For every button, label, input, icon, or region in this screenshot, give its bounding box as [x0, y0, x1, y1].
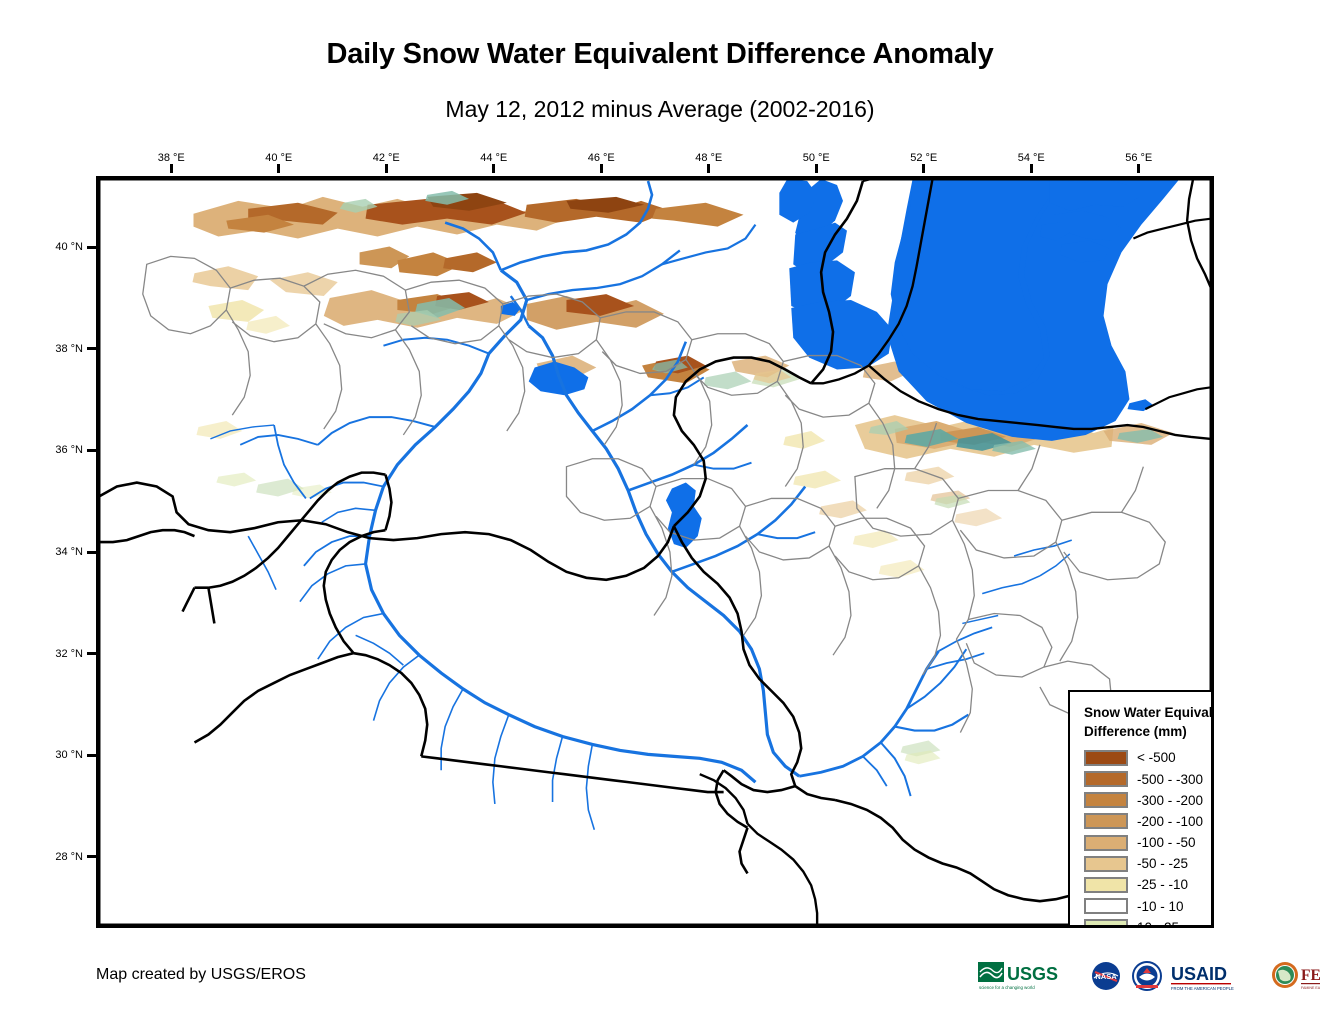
agency-logo-bar: USGS science for a changing world NASA U… [978, 957, 1320, 995]
latitude-tick [87, 652, 96, 655]
page-title: Daily Snow Water Equivalent Difference A… [0, 38, 1320, 71]
latitude-label: 34 °N [55, 546, 83, 558]
legend-row: < -500 [1084, 747, 1214, 768]
legend-label: -500 - -300 [1137, 772, 1203, 787]
fewsnet-logo[interactable]: FEWS NET FAMINE EARLY WARNING SYSTEMS NE… [1270, 959, 1320, 993]
longitude-label: 40 °E [265, 152, 292, 164]
legend-title: Snow Water Equivalent Difference (mm) [1084, 704, 1214, 741]
longitude-label: 42 °E [373, 152, 400, 164]
nasa-logo[interactable]: NASA [1089, 959, 1123, 993]
legend-color-swatch [1084, 835, 1128, 851]
latitude-label: 30 °N [55, 749, 83, 761]
legend-row: -10 - 10 [1084, 896, 1214, 917]
longitude-tick [170, 164, 173, 173]
svg-text:USAID: USAID [1171, 964, 1227, 984]
latitude-label: 36 °N [55, 444, 83, 456]
legend-row: -300 - -200 [1084, 790, 1214, 811]
svg-text:science for a changing world: science for a changing world [979, 985, 1035, 990]
longitude-label: 38 °E [158, 152, 185, 164]
longitude-tick [815, 164, 818, 173]
latitude-tick [87, 246, 96, 249]
legend-label: -100 - -50 [1137, 835, 1196, 850]
longitude-tick [600, 164, 603, 173]
legend-color-swatch [1084, 856, 1128, 872]
legend-label: -10 - 10 [1137, 899, 1184, 914]
map-canvas[interactable] [99, 179, 1211, 925]
legend-label: -300 - -200 [1137, 793, 1203, 808]
usgs-logo[interactable]: USGS science for a changing world [978, 959, 1082, 993]
legend-label: -25 - -10 [1137, 877, 1188, 892]
longitude-tick [277, 164, 280, 173]
longitude-label: 44 °E [480, 152, 507, 164]
latitude-tick [87, 754, 96, 757]
legend-label: < -500 [1137, 750, 1176, 765]
svg-text:USGS: USGS [1007, 964, 1058, 984]
legend-color-swatch [1084, 813, 1128, 829]
footer-credit: Map created by USGS/EROS [96, 966, 306, 984]
longitude-label: 50 °E [803, 152, 830, 164]
page-subtitle: May 12, 2012 minus Average (2002-2016) [0, 96, 1320, 123]
legend-label: -50 - -25 [1137, 856, 1188, 871]
legend-row: -500 - -300 [1084, 768, 1214, 789]
legend-color-swatch [1084, 792, 1128, 808]
longitude-tick [1030, 164, 1033, 173]
water-bodies-layer [501, 179, 1181, 766]
latitude-tick [87, 347, 96, 350]
latitude-tick [87, 449, 96, 452]
longitude-label: 56 °E [1125, 152, 1152, 164]
usaid-logo[interactable]: USAID FROM THE AMERICAN PEOPLE [1171, 959, 1263, 993]
map-legend: Snow Water Equivalent Difference (mm) < … [1068, 690, 1214, 928]
longitude-label: 52 °E [910, 152, 937, 164]
legend-label: 10 - 25 [1137, 920, 1179, 928]
longitude-tick [492, 164, 495, 173]
legend-row: -100 - -50 [1084, 832, 1214, 853]
legend-color-swatch [1084, 877, 1128, 893]
longitude-label: 54 °E [1018, 152, 1045, 164]
legend-color-swatch [1084, 750, 1128, 766]
longitude-tick [385, 164, 388, 173]
latitude-tick [87, 855, 96, 858]
legend-row: -25 - -10 [1084, 874, 1214, 895]
longitude-tick [707, 164, 710, 173]
svg-text:FAMINE EARLY WARNING SYSTEMS N: FAMINE EARLY WARNING SYSTEMS NETWORK [1301, 986, 1320, 990]
latitude-label: 40 °N [55, 241, 83, 253]
legend-color-swatch [1084, 919, 1128, 928]
longitude-tick [922, 164, 925, 173]
longitude-tick [1137, 164, 1140, 173]
legend-row: -50 - -25 [1084, 853, 1214, 874]
legend-label: -200 - -100 [1137, 814, 1203, 829]
legend-entries: < -500-500 - -300-300 - -200-200 - -100-… [1084, 747, 1214, 928]
latitude-label: 32 °N [55, 648, 83, 660]
svg-text:FEWS NET: FEWS NET [1301, 967, 1320, 984]
noaa-logo[interactable] [1130, 959, 1164, 993]
latitude-label: 28 °N [55, 851, 83, 863]
latitude-tick [87, 551, 96, 554]
legend-color-swatch [1084, 771, 1128, 787]
legend-row: -200 - -100 [1084, 811, 1214, 832]
legend-row: 10 - 25 [1084, 917, 1214, 928]
svg-text:NASA: NASA [1095, 972, 1117, 981]
map-frame[interactable]: Snow Water Equivalent Difference (mm) < … [96, 176, 1214, 928]
legend-color-swatch [1084, 898, 1128, 914]
latitude-label: 38 °N [55, 343, 83, 355]
svg-text:FROM THE AMERICAN PEOPLE: FROM THE AMERICAN PEOPLE [1171, 986, 1234, 991]
longitude-label: 48 °E [695, 152, 722, 164]
longitude-label: 46 °E [588, 152, 615, 164]
